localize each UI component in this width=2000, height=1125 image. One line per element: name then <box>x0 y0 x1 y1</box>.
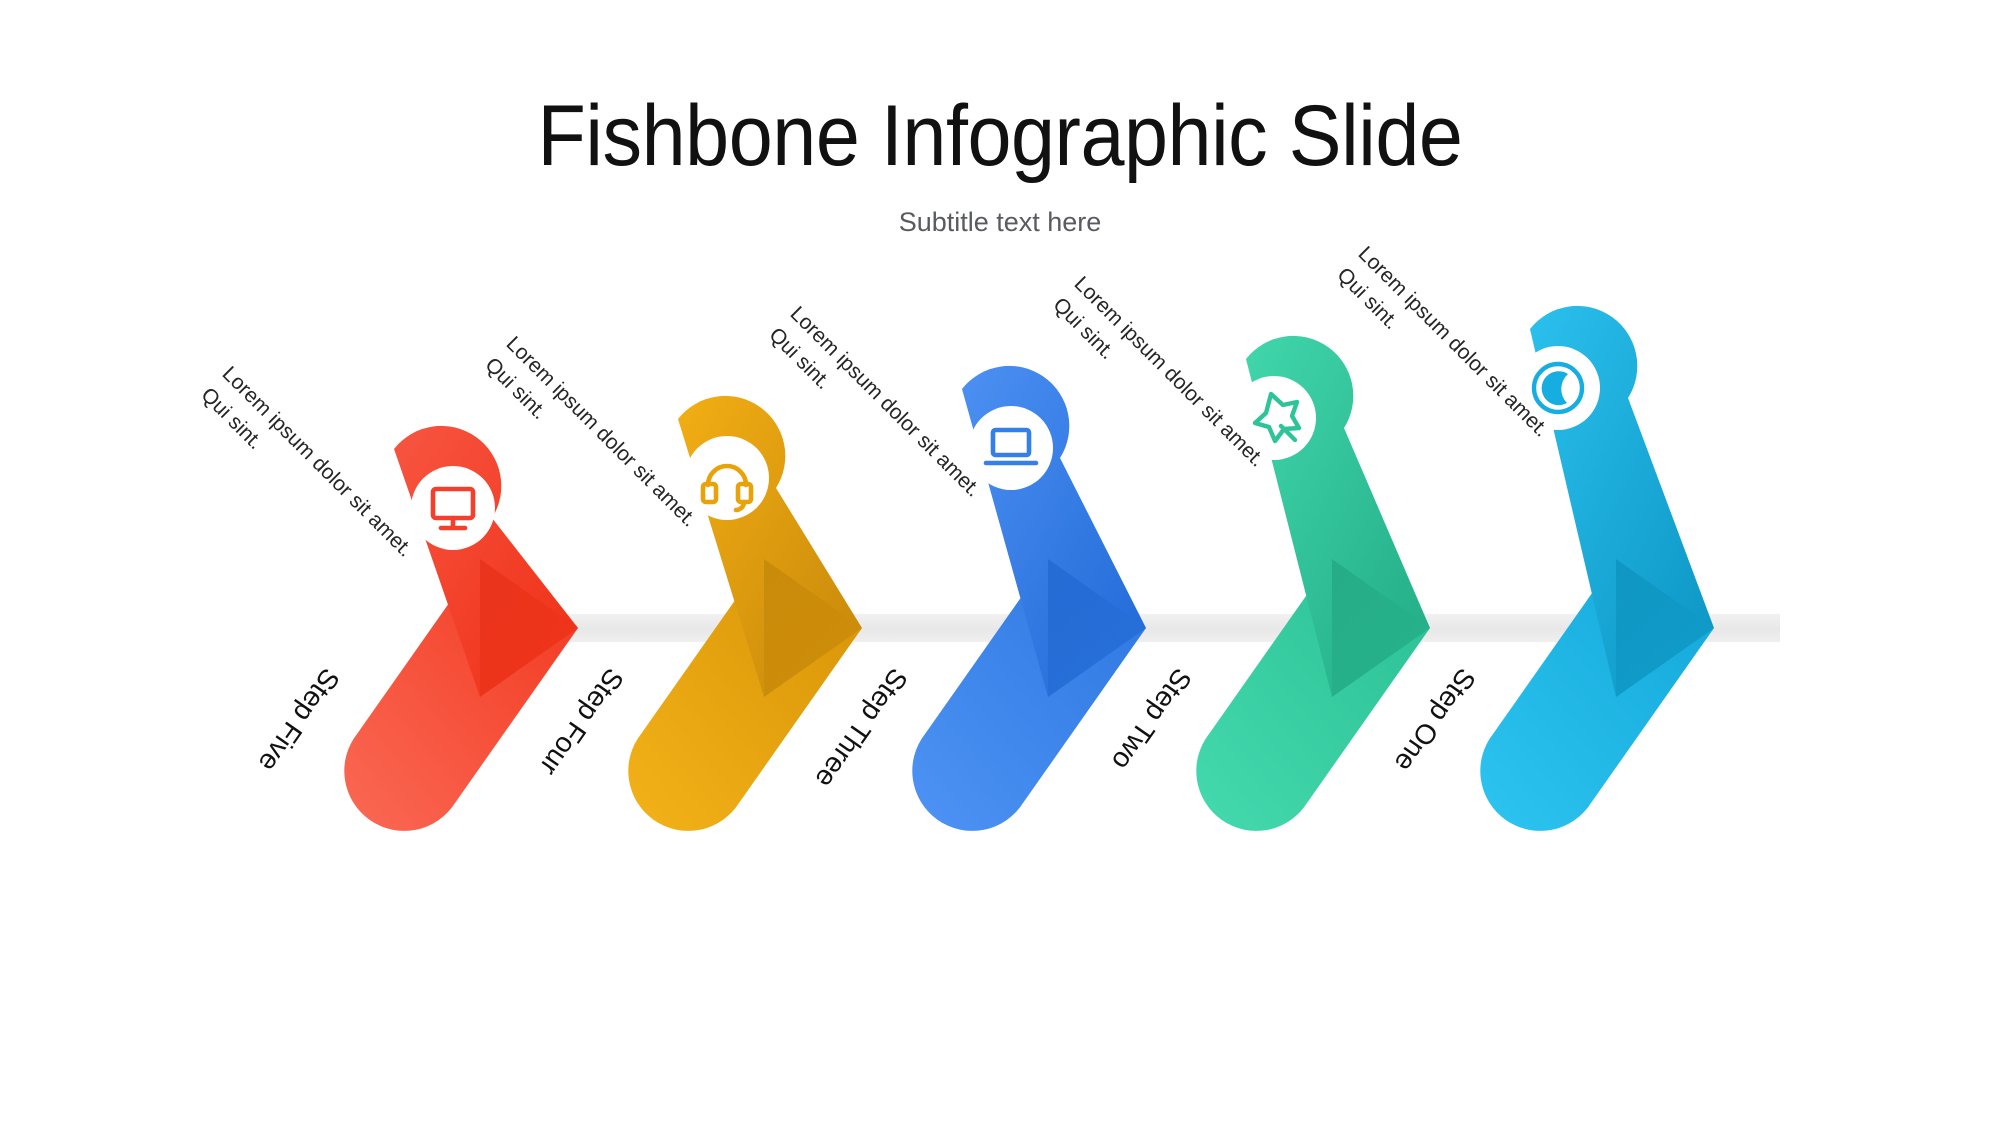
fishbone-diagram: Lorem ipsum dolor sit amet. Qui sint. Lo… <box>0 0 2000 1125</box>
fishbone-graphic <box>0 0 2000 1125</box>
icon-bubble-step-five <box>411 466 495 550</box>
slide-canvas: Fishbone Infographic Slide Subtitle text… <box>0 0 2000 1125</box>
